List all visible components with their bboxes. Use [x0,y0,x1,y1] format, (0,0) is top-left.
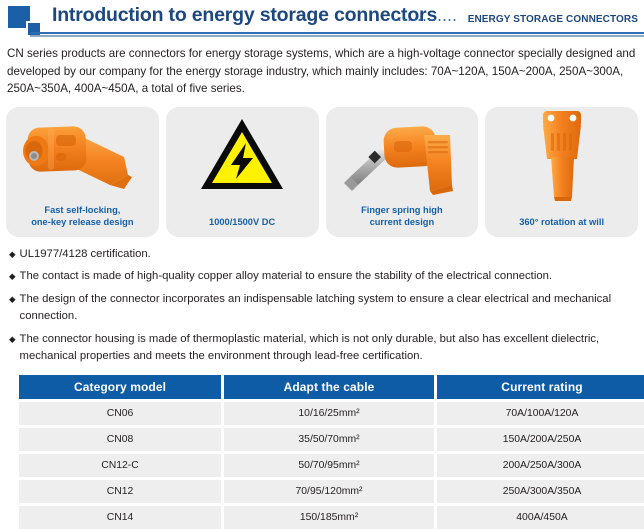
feature-card-finger-spring[interactable]: Finger spring high current design [326,107,479,237]
cell-adapt-the-cable: 70/95/120mm² [224,480,434,503]
table-header-row: Category model Adapt the cable Current r… [19,375,644,399]
list-item: ◆ The design of the connector incorporat… [9,291,636,326]
list-item-text: The design of the connector incorporates… [20,291,636,326]
orange-elbow-connector-icon [6,111,159,199]
list-item: ◆ The connector housing is made of therm… [9,331,636,366]
list-item-text: The connector housing is made of thermop… [20,331,636,366]
table-row: CN06 10/16/25mm² 70A/100A/120A [19,402,644,425]
feature-card-voltage-rating[interactable]: 1000/1500V DC [166,107,319,237]
orange-connector-with-pin-icon [326,111,479,199]
diamond-bullet-icon: ◆ [9,291,16,307]
cell-adapt-the-cable: 10/16/25mm² [224,402,434,425]
cell-current-rating: 400A/450A [437,506,644,529]
header-right-group: ENERGY STORAGE CONNECTORS [392,14,638,25]
feature-card-row: Fast self-locking, one-key release desig… [6,107,638,237]
cell-category-model: CN08 [19,428,221,451]
feature-card-caption: Finger spring high current design [330,204,475,229]
cell-adapt-the-cable: 35/50/70mm² [224,428,434,451]
table-header: Category model Adapt the cable Current r… [19,375,644,399]
list-item-text: The contact is made of high-quality copp… [20,268,636,286]
list-item: ◆ The contact is made of high-quality co… [9,268,636,286]
feature-card-caption: 1000/1500V DC [170,216,315,229]
table-body: CN06 10/16/25mm² 70A/100A/120A CN08 35/5… [19,402,644,529]
table-row: CN12 70/95/120mm² 250A/300A/350A [19,480,644,503]
diamond-bullet-icon: ◆ [9,246,16,262]
column-header-adapt-the-cable: Adapt the cable [224,375,434,399]
caption-line-1: Finger spring high [330,204,475,217]
table-row: CN08 35/50/70mm² 150A/200A/250A [19,428,644,451]
cell-category-model: CN12 [19,480,221,503]
caption-line-1: 1000/1500V DC [170,216,315,229]
cell-category-model: CN14 [19,506,221,529]
feature-card-self-locking[interactable]: Fast self-locking, one-key release desig… [6,107,159,237]
dotted-rule-icon [392,18,458,22]
header-divider-line-top [30,32,644,34]
specifications-table: Category model Adapt the cable Current r… [16,372,644,532]
cell-current-rating: 200A/250A/300A [437,454,644,477]
intro-paragraph: CN series products are connectors for en… [7,45,636,98]
header-kicker: ENERGY STORAGE CONNECTORS [468,14,638,25]
cell-current-rating: 150A/200A/250A [437,428,644,451]
caption-line-2: one-key release design [10,216,155,229]
caption-line-1: 360° rotation at will [489,216,634,229]
column-header-current-rating: Current rating [437,375,644,399]
feature-card-caption: 360° rotation at will [489,216,634,229]
header-divider-line-bottom [30,35,644,37]
cell-adapt-the-cable: 50/70/95mm² [224,454,434,477]
diamond-bullet-icon: ◆ [9,331,16,347]
feature-card-caption: Fast self-locking, one-key release desig… [10,204,155,229]
page-header: Introduction to energy storage connector… [0,0,644,38]
cell-category-model: CN06 [19,402,221,425]
table-row: CN14 150/185mm² 400A/450A [19,506,644,529]
list-item-text: UL1977/4128 certification. [20,246,636,264]
column-header-category-model: Category model [19,375,221,399]
cell-adapt-the-cable: 150/185mm² [224,506,434,529]
high-voltage-warning-triangle-icon [166,111,319,199]
list-item: ◆ UL1977/4128 certification. [9,246,636,264]
feature-bullet-list: ◆ UL1977/4128 certification. ◆ The conta… [9,246,636,366]
feature-card-rotation[interactable]: 360° rotation at will [485,107,638,237]
page-title: Introduction to energy storage connector… [52,4,437,27]
cell-current-rating: 70A/100A/120A [437,402,644,425]
cell-category-model: CN12-C [19,454,221,477]
caption-line-1: Fast self-locking, [10,204,155,217]
orange-vertical-connector-icon [485,111,638,199]
caption-line-2: current design [330,216,475,229]
diamond-bullet-icon: ◆ [9,268,16,284]
table-row: CN12-C 50/70/95mm² 200A/250A/300A [19,454,644,477]
cell-current-rating: 250A/300A/350A [437,480,644,503]
header-divider [0,32,644,38]
